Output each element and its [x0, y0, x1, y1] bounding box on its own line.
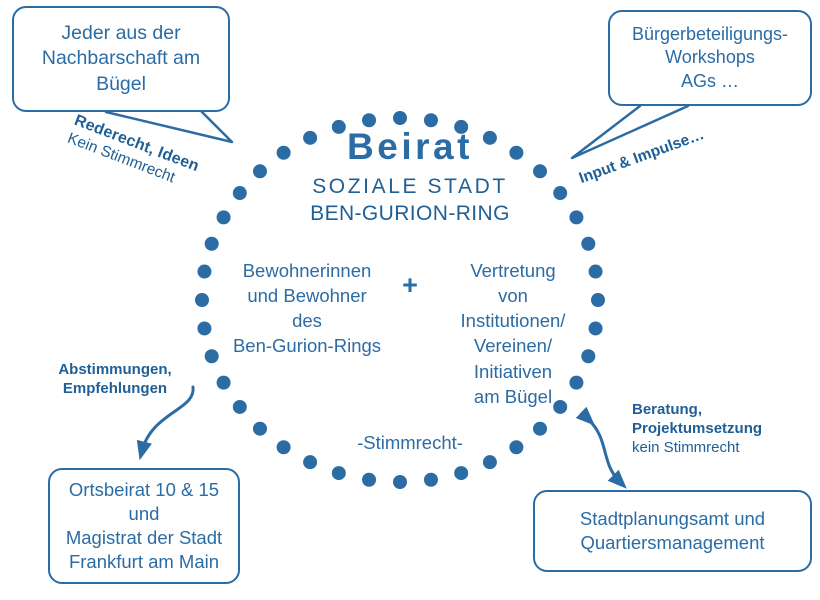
column-institutions: Vertretung von Institutionen/ Vereinen/ …: [427, 258, 599, 409]
ring-dot: [393, 475, 407, 489]
bubble-participation-label: Bürgerbeteiligungs- Workshops AGs …: [624, 23, 796, 93]
bubble-neighborhood-label: Jeder aus der Nachbarschaft am Bügel: [34, 21, 208, 97]
bubble-participation[interactable]: Bürgerbeteiligungs- Workshops AGs …: [608, 10, 812, 106]
ring-dot: [253, 422, 267, 436]
membership-columns: Bewohnerinnen und Bewohner des Ben-Gurio…: [210, 258, 610, 409]
subtitle-soziale-stadt: SOZIALE STADT: [230, 173, 590, 201]
caption-input-impulse: Input & Impulse…: [577, 126, 707, 188]
ring-dot: [581, 237, 595, 251]
ring-dot: [195, 293, 209, 307]
bubble-ortsbeirat[interactable]: Ortsbeirat 10 & 15 und Magistrat der Sta…: [48, 468, 240, 584]
ring-dot: [483, 455, 497, 469]
plus-icon: +: [393, 272, 427, 299]
caption-abstimmungen: Abstimmungen, Empfehlungen: [40, 360, 190, 398]
page-title: Beirat: [230, 128, 590, 167]
center-title-block: Beirat SOZIALE STADT BEN-GURION-RING: [230, 128, 590, 227]
voting-rights-note: -Stimmrecht-: [280, 432, 540, 454]
ring-dot: [217, 210, 231, 224]
caption-beratung: Beratung, Projektumsetzung kein Stimmrec…: [632, 400, 802, 458]
ring-dot: [454, 466, 468, 480]
ring-dot: [424, 473, 438, 487]
ring-dot: [332, 466, 346, 480]
ring-dot: [393, 111, 407, 125]
ring-dot: [303, 455, 317, 469]
bubble-stadtplanungsamt-label: Stadtplanungsamt und Quartiersmanagement: [572, 507, 773, 555]
caption-rederecht: Rederecht, Ideen Kein Stimmrecht: [65, 112, 202, 194]
subtitle-ben-gurion-ring: BEN-GURION-RING: [230, 201, 590, 227]
arrow-beratung: [588, 419, 620, 482]
bubble-stadtplanungsamt[interactable]: Stadtplanungsamt und Quartiersmanagement: [533, 490, 812, 572]
caption-beratung-bold: Beratung, Projektumsetzung: [632, 400, 802, 438]
caption-beratung-regular: kein Stimmrecht: [632, 438, 802, 457]
bubble-neighborhood[interactable]: Jeder aus der Nachbarschaft am Bügel: [12, 6, 230, 112]
diagram-canvas: Beirat SOZIALE STADT BEN-GURION-RING Bew…: [0, 0, 820, 600]
column-residents: Bewohnerinnen und Bewohner des Ben-Gurio…: [221, 258, 393, 359]
ring-dot: [205, 237, 219, 251]
ring-dot: [362, 473, 376, 487]
bubble-ortsbeirat-label: Ortsbeirat 10 & 15 und Magistrat der Sta…: [58, 478, 230, 574]
